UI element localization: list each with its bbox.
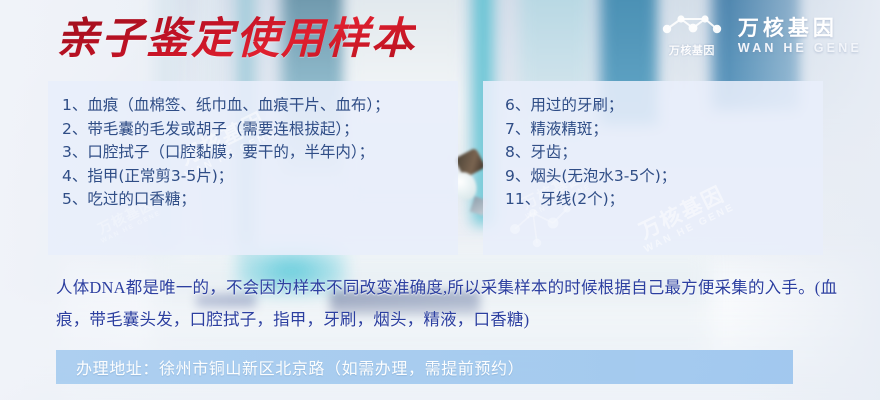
list-item: 11、牙线(2个)；: [505, 188, 676, 212]
logo-name-en: WAN HE GENE: [738, 42, 862, 56]
poster-canvas: 万核基因 万核基因 WAN HE GENE 亲子鉴定使用样本 万核基因 WAN …: [0, 0, 880, 400]
sample-list-right: 6、用过的牙刷； 7、精液精斑； 8、牙齿； 9、烟头(无泡水3-5个)； 11…: [505, 94, 676, 212]
list-item: 4、指甲(正常剪3-5片)；: [62, 165, 390, 189]
sample-list-card-right: 万核基因 WAN HE GENE 万核基因 WAN HE GENE: [483, 81, 823, 255]
logo-mark-label: 万核基因: [669, 42, 715, 58]
list-item: 3、口腔拭子（口腔黏膜，要干的，半年内）；: [62, 141, 390, 165]
sample-list-card-left: 万核基因 WAN HE GENE 万核基因 WAN HE GENE 1、血痕（血…: [48, 81, 458, 255]
list-item: 8、牙齿；: [505, 141, 676, 165]
list-item: 9、烟头(无泡水3-5个)；: [505, 165, 676, 189]
address-bar: 办理地址：徐州市铜山新区北京路（如需办理，需提前预约）: [56, 350, 793, 384]
list-item: 5、吃过的口香糖；: [62, 188, 390, 212]
page-title: 亲子鉴定使用样本: [56, 16, 416, 63]
list-item: 7、精液精斑；: [505, 118, 676, 142]
list-item: 6、用过的牙刷；: [505, 94, 676, 118]
list-item: 1、血痕（血棉签、纸巾血、血痕干片、血布）；: [62, 94, 390, 118]
list-item: 2、带毛囊的毛发或胡子（需要连根拔起）；: [62, 118, 390, 142]
brand-logo: 万核基因 万核基因 WAN HE GENE: [660, 14, 862, 58]
address-text: 办理地址：徐州市铜山新区北京路（如需办理，需提前预约）: [76, 355, 524, 379]
molecule-icon: 万核基因: [660, 14, 724, 58]
logo-name-cn: 万核基因: [738, 17, 862, 41]
note-paragraph: 人体DNA都是唯一的，不会因为样本不同改变准确度,所以采集样本的时候根据自己最方…: [56, 272, 846, 335]
sample-list-left: 1、血痕（血棉签、纸巾血、血痕干片、血布）； 2、带毛囊的毛发或胡子（需要连根拔…: [62, 94, 390, 212]
